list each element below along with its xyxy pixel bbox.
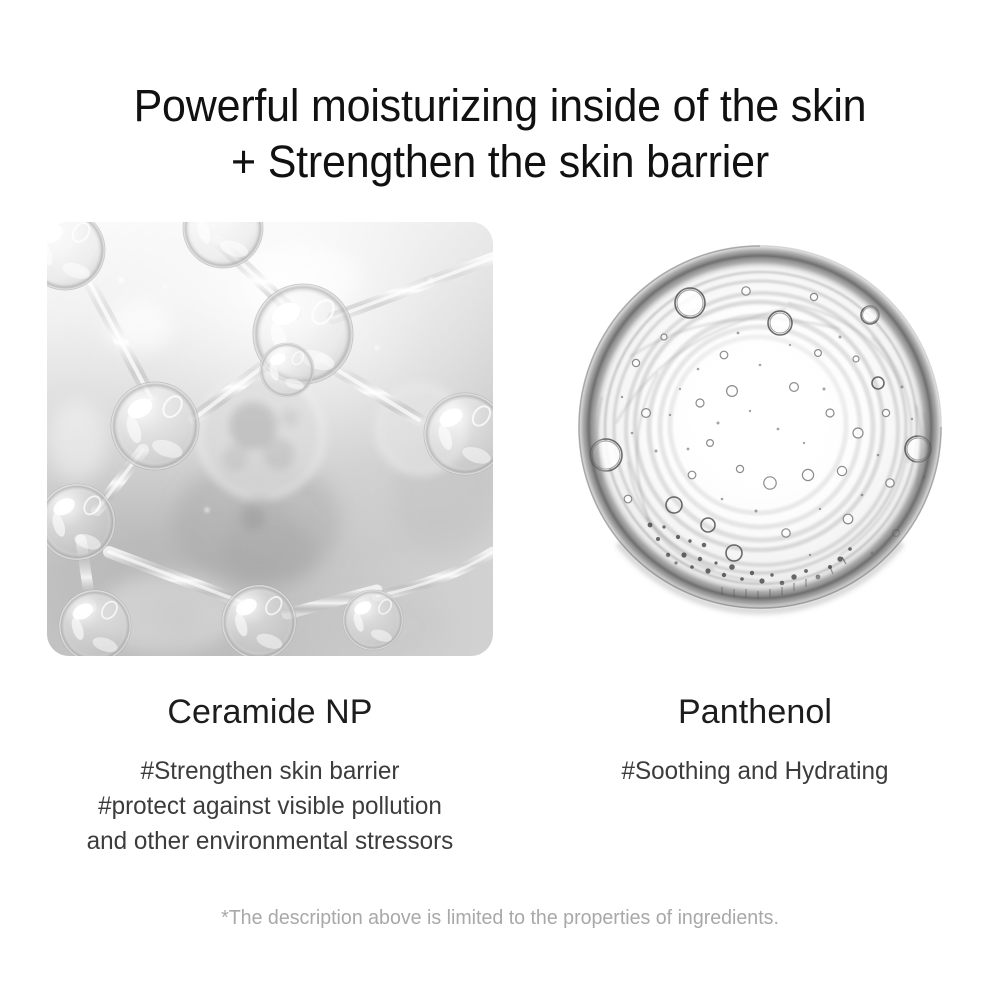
ingredient-name-panthenol: Panthenol [530,692,980,732]
ingredient-description-panthenol: #Soothing and Hydrating [537,754,974,789]
disclaimer-footnote: *The description above is limited to the… [10,905,990,931]
headline-line-1: Powerful moisturizing inside of the skin [23,78,978,134]
infographic-page: Powerful moisturizing inside of the skin… [0,0,1000,1000]
panthenol-gel-image [572,237,948,619]
ingredient-block-panthenol: Panthenol #Soothing and Hydrating [530,692,980,789]
headline-line-2: + Strengthen the skin barrier [23,134,978,190]
panthenol-desc-line-1: #Soothing and Hydrating [537,754,974,789]
ingredient-description-ceramide: #Strengthen skin barrier #protect agains… [28,754,513,859]
ceramide-desc-line-2: #protect against visible pollution [28,789,513,824]
page-title: Powerful moisturizing inside of the skin… [23,78,978,190]
ingredient-block-ceramide: Ceramide NP #Strengthen skin barrier #pr… [20,692,520,859]
ceramide-desc-line-1: #Strengthen skin barrier [28,754,513,789]
ingredient-name-ceramide: Ceramide NP [20,692,520,732]
ceramide-molecule-image [47,222,493,656]
ceramide-desc-line-3: and other environmental stressors [28,824,513,859]
